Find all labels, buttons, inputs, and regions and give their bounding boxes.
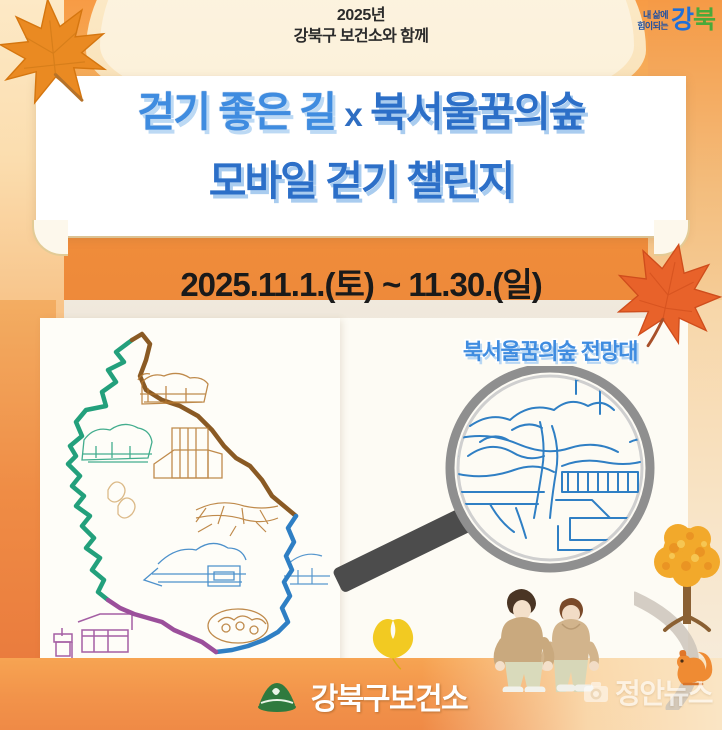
- title-part-walking-road: 걷기 좋은 길: [138, 89, 335, 135]
- ginkgo-leaf-icon: [362, 608, 424, 670]
- title-part-dream-forest: 북서울꿈의숲: [370, 89, 584, 135]
- brand-mark-gang: 강: [671, 8, 692, 33]
- title-x-separator: x: [344, 96, 360, 133]
- autumn-tree-icon: [652, 522, 722, 642]
- brand-slogan-line1: 내 삶에: [643, 10, 668, 21]
- poster-canvas: 2025년 강북구 보건소와 함께 내 삶에 힘이되는 강 북 걷기 좋은 길 …: [0, 0, 722, 730]
- gangbuk-brand-logo: 내 삶에 힘이되는 강 북: [637, 8, 714, 33]
- title-challenge: 모바일 걷기 챌린지: [209, 158, 514, 204]
- news-watermark: 정안뉴스: [582, 672, 712, 712]
- maple-leaf-orange-icon: [0, 0, 118, 116]
- green-mountain-icon: [255, 679, 299, 713]
- brand-mark-buk: 북: [693, 8, 714, 33]
- magnifying-glass-illustration: [330, 366, 680, 598]
- brand-mark: 강 북: [671, 8, 714, 33]
- magnifier-handle: [332, 504, 478, 593]
- watermark-text: 정안뉴스: [615, 672, 712, 712]
- brand-slogan-line2: 힘이되는: [637, 21, 668, 32]
- camera-icon: [582, 678, 610, 706]
- title-line-2: 모바일 걷기 챌린지: [0, 155, 722, 207]
- footer-organization: 강북구보건소: [311, 674, 468, 718]
- magnifier-label: 북서울꿈의숲 전망대: [420, 334, 680, 366]
- brand-slogan: 내 삶에 힘이되는: [637, 10, 668, 32]
- gangbuk-district-map: [46, 330, 336, 670]
